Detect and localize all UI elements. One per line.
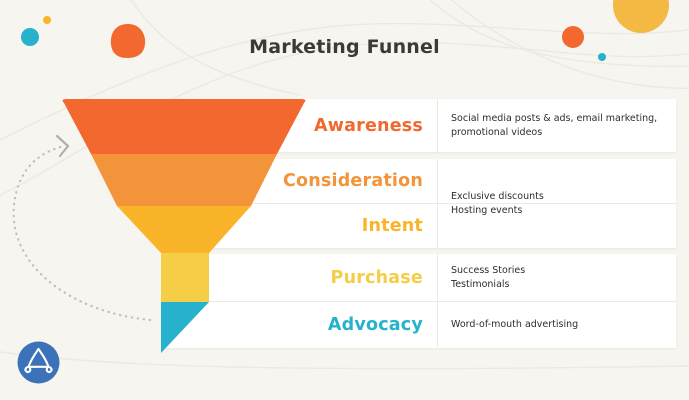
- funnel-graphic: [55, 95, 315, 360]
- stage-description-advocacy: Word-of-mouth advertising: [437, 302, 676, 347]
- stage-description-consideration-intent: Exclusive discounts Hosting events: [437, 159, 676, 248]
- funnel-infographic: Marketing Funnel Awareness Social media …: [0, 0, 689, 400]
- stage-description-purchase: Success Stories Testimonials: [437, 254, 676, 301]
- page-title: Marketing Funnel: [0, 36, 689, 58]
- funnel-band-awareness: [63, 99, 306, 154]
- funnel-band-purchase: [161, 253, 209, 302]
- funnel-band-consideration: [91, 154, 277, 206]
- funnel-band-advocacy: [161, 302, 209, 353]
- stage-description-awareness: Social media posts & ads, email marketin…: [437, 99, 676, 152]
- funnel-band-intent: [117, 206, 251, 253]
- brand-logo[interactable]: [16, 340, 61, 385]
